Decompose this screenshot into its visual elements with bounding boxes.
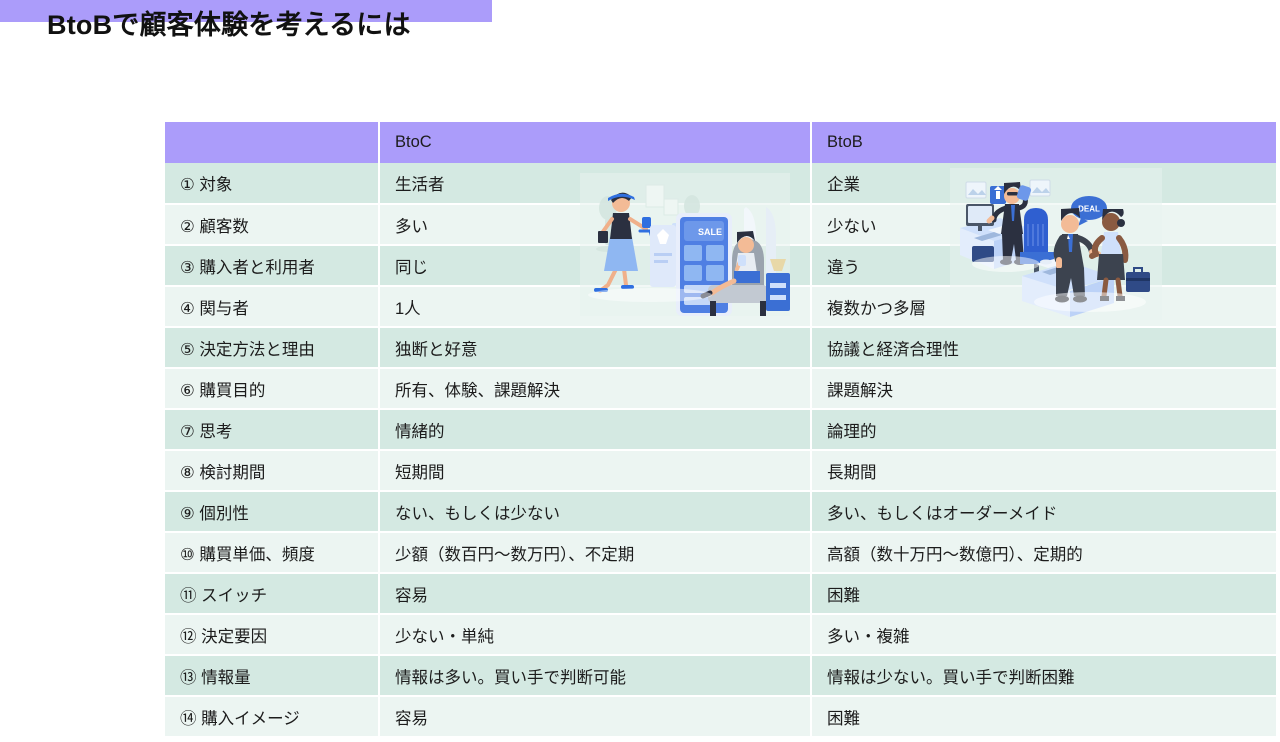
cell-btob: 情報は少ない。買い手で判断困難: [811, 655, 1276, 696]
cell-btoc: 容易: [379, 696, 811, 737]
row-label: ⑨ 個別性: [165, 491, 379, 532]
table-row: ④ 関与者1人複数かつ多層: [165, 286, 1276, 327]
row-label: ⑤ 決定方法と理由: [165, 327, 379, 368]
cell-btob: 長期間: [811, 450, 1276, 491]
cell-btob: 少ない: [811, 204, 1276, 245]
table-header: BtoC BtoB: [165, 122, 1276, 163]
cell-btob: 多い・複雑: [811, 614, 1276, 655]
cell-btoc: ない、もしくは少ない: [379, 491, 811, 532]
cell-btoc: 1人: [379, 286, 811, 327]
cell-btoc: 独断と好意: [379, 327, 811, 368]
table-row: ⑤ 決定方法と理由独断と好意協議と経済合理性: [165, 327, 1276, 368]
table-row: ⑥ 購買目的所有、体験、課題解決課題解決: [165, 368, 1276, 409]
table-row: ⑫ 決定要因少ない・単純多い・複雑: [165, 614, 1276, 655]
row-label: ⑫ 決定要因: [165, 614, 379, 655]
cell-btob: 違う: [811, 245, 1276, 286]
table-row: ⑦ 思考情緒的論理的: [165, 409, 1276, 450]
table-row: ⑬ 情報量情報は多い。買い手で判断可能情報は少ない。買い手で判断困難: [165, 655, 1276, 696]
cell-btob: 企業: [811, 163, 1276, 204]
cell-btoc: 生活者: [379, 163, 811, 204]
table-header-row: BtoC BtoB: [165, 122, 1276, 163]
cell-btoc: 容易: [379, 573, 811, 614]
table-row: ③ 購入者と利用者同じ違う: [165, 245, 1276, 286]
table-row: ⑪ スイッチ容易困難: [165, 573, 1276, 614]
column-header-btoc: BtoC: [379, 122, 811, 163]
table-row: ⑨ 個別性ない、もしくは少ない多い、もしくはオーダーメイド: [165, 491, 1276, 532]
page-title: BtoBで顧客体験を考えるには: [47, 9, 411, 41]
column-header-btob: BtoB: [811, 122, 1276, 163]
cell-btoc: 少ない・単純: [379, 614, 811, 655]
cell-btob: 複数かつ多層: [811, 286, 1276, 327]
column-header-category: [165, 122, 379, 163]
btoc-btob-comparison-table: BtoC BtoB ① 対象生活者企業② 顧客数多い少ない③ 購入者と利用者同じ…: [165, 122, 1276, 738]
row-label: ⑧ 検討期間: [165, 450, 379, 491]
cell-btoc: 少額（数百円〜数万円）、不定期: [379, 532, 811, 573]
table-row: ⑧ 検討期間短期間長期間: [165, 450, 1276, 491]
table-row: ⑩ 購買単価、頻度少額（数百円〜数万円）、不定期高額（数十万円〜数億円）、定期的: [165, 532, 1276, 573]
cell-btoc: 同じ: [379, 245, 811, 286]
cell-btob: 高額（数十万円〜数億円）、定期的: [811, 532, 1276, 573]
row-label: ⑬ 情報量: [165, 655, 379, 696]
cell-btoc: 所有、体験、課題解決: [379, 368, 811, 409]
row-label: ③ 購入者と利用者: [165, 245, 379, 286]
table-row: ① 対象生活者企業: [165, 163, 1276, 204]
row-label: ② 顧客数: [165, 204, 379, 245]
cell-btob: 課題解決: [811, 368, 1276, 409]
cell-btob: 困難: [811, 696, 1276, 737]
cell-btob: 多い、もしくはオーダーメイド: [811, 491, 1276, 532]
row-label: ④ 関与者: [165, 286, 379, 327]
table-row: ⑭ 購入イメージ容易困難: [165, 696, 1276, 737]
row-label: ⑪ スイッチ: [165, 573, 379, 614]
cell-btob: 協議と経済合理性: [811, 327, 1276, 368]
row-label: ⑩ 購買単価、頻度: [165, 532, 379, 573]
cell-btoc: 情報は多い。買い手で判断可能: [379, 655, 811, 696]
row-label: ⑦ 思考: [165, 409, 379, 450]
cell-btoc: 短期間: [379, 450, 811, 491]
row-label: ⑥ 購買目的: [165, 368, 379, 409]
row-label: ⑭ 購入イメージ: [165, 696, 379, 737]
cell-btoc: 多い: [379, 204, 811, 245]
cell-btob: 論理的: [811, 409, 1276, 450]
table-row: ② 顧客数多い少ない: [165, 204, 1276, 245]
cell-btob: 困難: [811, 573, 1276, 614]
cell-btoc: 情緒的: [379, 409, 811, 450]
row-label: ① 対象: [165, 163, 379, 204]
table-body: ① 対象生活者企業② 顧客数多い少ない③ 購入者と利用者同じ違う④ 関与者1人複…: [165, 163, 1276, 737]
